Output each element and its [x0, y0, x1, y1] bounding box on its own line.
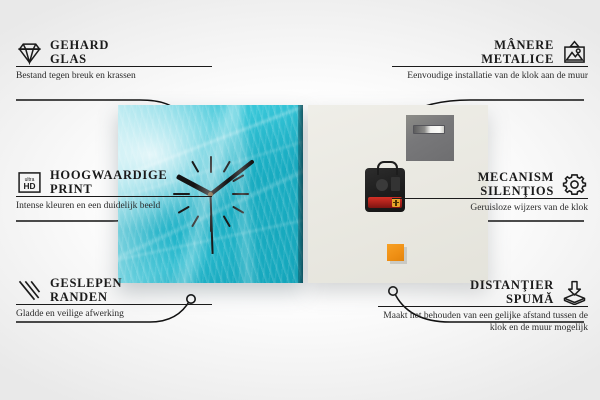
- feature-description: Maakt het behouden van een gelijke afsta…: [378, 307, 588, 334]
- ultra-hd-icon: ultra HD: [16, 170, 43, 195]
- gear-icon: [561, 172, 588, 197]
- feature-silent-mechanism: MECANISM SILENŢIOS Geruisloze wijzers va…: [392, 170, 588, 215]
- hanger-keyhole-slot: [413, 125, 445, 134]
- feature-description: Gladde en veilige afwerking: [16, 305, 212, 321]
- feature-foam-spacer: DISTANŢIER SPUMĂ Maakt het behouden van …: [378, 278, 588, 334]
- feature-description: Bestand tegen breuk en krassen: [16, 67, 212, 83]
- diamond-icon: [16, 40, 43, 65]
- feature-description: Eenvoudige installatie van de klok aan d…: [392, 67, 588, 83]
- metal-hanger-plate: [406, 115, 454, 161]
- foam-spacer: [387, 244, 404, 261]
- feature-tempered-glass: GEHARD GLAS Bestand tegen breuk en krass…: [16, 38, 212, 83]
- framed-picture-hanging-icon: [561, 40, 588, 65]
- feature-title: MÂNERE METALICE: [481, 38, 554, 66]
- feature-high-quality-print: ultra HD HOOGWAARDIGE PRINT Intense kleu…: [16, 168, 212, 213]
- feature-title: MECANISM SILENŢIOS: [478, 170, 554, 198]
- bevelled-edges-icon: [16, 278, 43, 303]
- feature-title: HOOGWAARDIGE PRINT: [50, 168, 167, 196]
- clock-minute-hand: [209, 159, 254, 195]
- feature-description: Geruisloze wijzers van de klok: [392, 199, 588, 215]
- feature-title: GESLEPEN RANDEN: [50, 276, 122, 304]
- svg-text:HD: HD: [23, 181, 35, 191]
- feature-metal-hooks: MÂNERE METALICE Eenvoudige installatie v…: [392, 38, 588, 83]
- feature-title: GEHARD GLAS: [50, 38, 109, 66]
- arrow-onto-stack-icon: [561, 280, 588, 305]
- mechanism-shaft: [376, 179, 388, 191]
- infographic-canvas: GEHARD GLAS Bestand tegen breuk en krass…: [0, 0, 600, 400]
- feature-title: DISTANŢIER SPUMĂ: [470, 278, 554, 306]
- feature-description: Intense kleuren en een duidelijk beeld: [16, 197, 212, 213]
- feature-ground-edges: GESLEPEN RANDEN Gladde en veilige afwerk…: [16, 276, 212, 321]
